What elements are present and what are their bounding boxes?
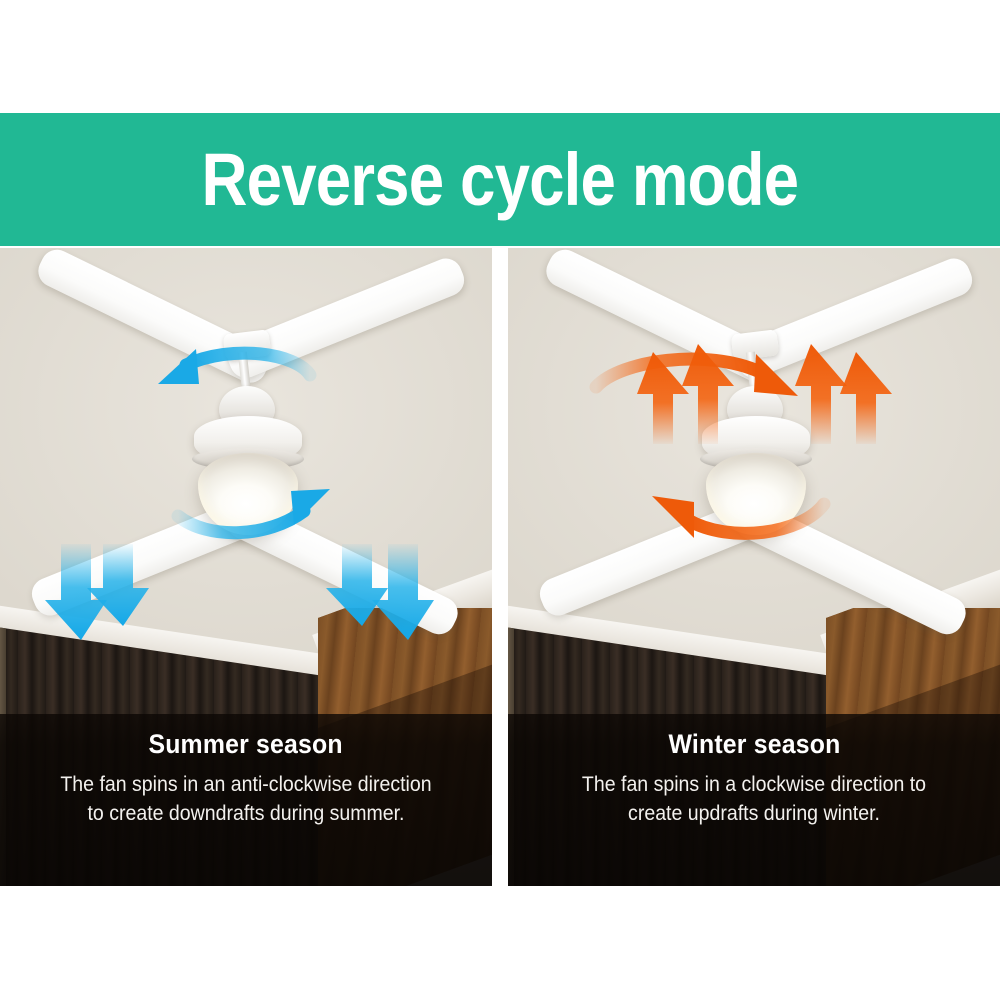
panel-summer: Summer season The fan spins in an anti-c… [0, 248, 492, 886]
caption-title: Winter season [668, 730, 840, 760]
title-banner: Reverse cycle mode [0, 113, 1000, 246]
rotation-arrow-clockwise-icon [652, 496, 824, 538]
updraft-arrow-icon [795, 344, 847, 444]
page-root: Reverse cycle mode [0, 0, 1000, 1000]
rotation-arrow-anticlockwise-icon [178, 489, 330, 533]
panel-divider [492, 248, 508, 886]
caption-body: The fan spins in a clockwise direction t… [568, 771, 940, 829]
updraft-arrow-icon [840, 352, 892, 444]
panel-winter: Winter season The fan spins in a clockwi… [508, 248, 1000, 886]
caption-title: Summer season [149, 730, 343, 760]
rotation-arrow-anticlockwise-icon [158, 349, 310, 384]
caption-summer: Summer season The fan spins in an anti-c… [0, 714, 492, 886]
comparison-panels: Summer season The fan spins in an anti-c… [0, 248, 1000, 886]
caption-winter: Winter season The fan spins in a clockwi… [508, 714, 1000, 886]
caption-body: The fan spins in an anti-clockwise direc… [60, 771, 432, 829]
downdraft-arrow-icon [326, 544, 388, 626]
page-title: Reverse cycle mode [202, 143, 799, 217]
